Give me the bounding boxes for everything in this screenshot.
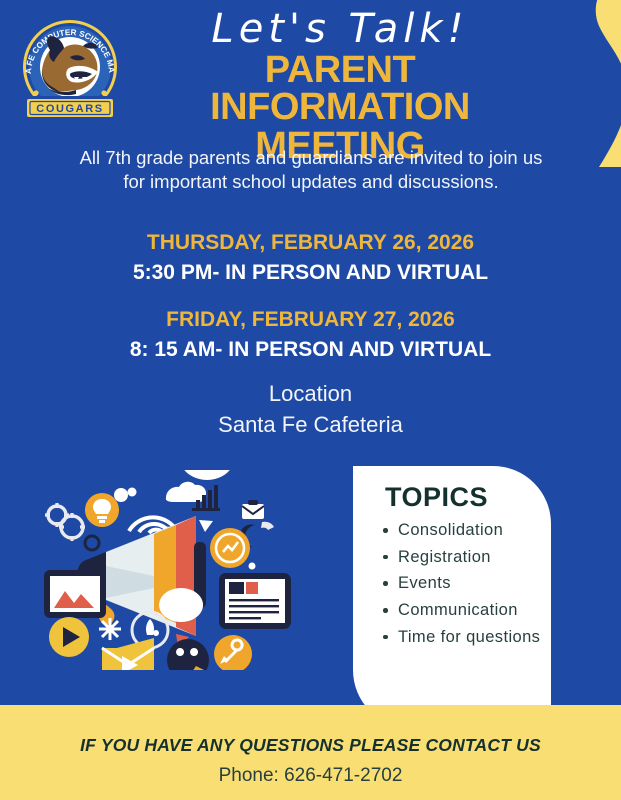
footer-bar: IF YOU HAVE ANY QUESTIONS PLEASE CONTACT… — [0, 705, 621, 800]
analytics-coin-icon — [210, 528, 250, 568]
tools-coin-icon — [214, 635, 252, 670]
title-line-1: PARENT INFORMATION — [130, 52, 550, 126]
cloud-icon — [166, 482, 206, 502]
lightbulb-icon — [85, 493, 119, 527]
logo-banner-text: COUGARS — [36, 103, 103, 115]
location-block: Location Santa Fe Cafeteria — [40, 378, 581, 440]
badge-icon — [167, 639, 209, 670]
list-item: Time for questions — [383, 624, 543, 651]
play-button-icon — [49, 617, 89, 657]
list-item: Registration — [383, 544, 543, 571]
session-date: THURSDAY, FEBRUARY 26, 2026 — [40, 228, 581, 258]
mail-icon — [242, 500, 264, 519]
megaphone-media-illustration — [24, 470, 324, 670]
gears-icon — [45, 503, 85, 541]
video-envelope-icon — [102, 638, 154, 670]
list-item: Consolidation — [383, 517, 543, 544]
session-item: FRIDAY, FEBRUARY 27, 2026 8: 15 AM- IN P… — [40, 305, 581, 366]
location-venue: Santa Fe Cafeteria — [40, 409, 581, 440]
photo-tablet-icon — [44, 570, 106, 618]
footer-phone: Phone: 626-471-2702 — [0, 765, 621, 787]
topics-card: TOPICS Consolidation Registration Events… — [353, 466, 551, 728]
session-time: 8: 15 AM- IN PERSON AND VIRTUAL — [40, 335, 581, 365]
list-item: Events — [383, 570, 543, 597]
footer-contact-line: IF YOU HAVE ANY QUESTIONS PLEASE CONTACT… — [0, 735, 621, 756]
eyebrow-lets-talk: Let's Talk! — [130, 8, 550, 50]
topics-title: TOPICS — [385, 482, 551, 513]
session-list: THURSDAY, FEBRUARY 26, 2026 5:30 PM- IN … — [40, 228, 581, 382]
intro-paragraph: All 7th grade parents and guardians are … — [72, 146, 550, 193]
sparkle-icon — [99, 618, 121, 640]
session-time: 5:30 PM- IN PERSON AND VIRTUAL — [40, 258, 581, 288]
location-label: Location — [40, 378, 581, 409]
session-item: THURSDAY, FEBRUARY 26, 2026 5:30 PM- IN … — [40, 228, 581, 289]
document-tablet-icon — [219, 573, 291, 629]
school-logo: SANTA FE COMPUTER SCIENCE MAGNET COUGARS — [14, 10, 126, 126]
page-title: Let's Talk! PARENT INFORMATION MEETING — [130, 8, 550, 166]
list-item: Communication — [383, 597, 543, 624]
topics-list: Consolidation Registration Events Commun… — [353, 517, 551, 651]
session-date: FRIDAY, FEBRUARY 27, 2026 — [40, 305, 581, 335]
flyer-poster: SANTA FE COMPUTER SCIENCE MAGNET COUGARS — [0, 0, 621, 800]
